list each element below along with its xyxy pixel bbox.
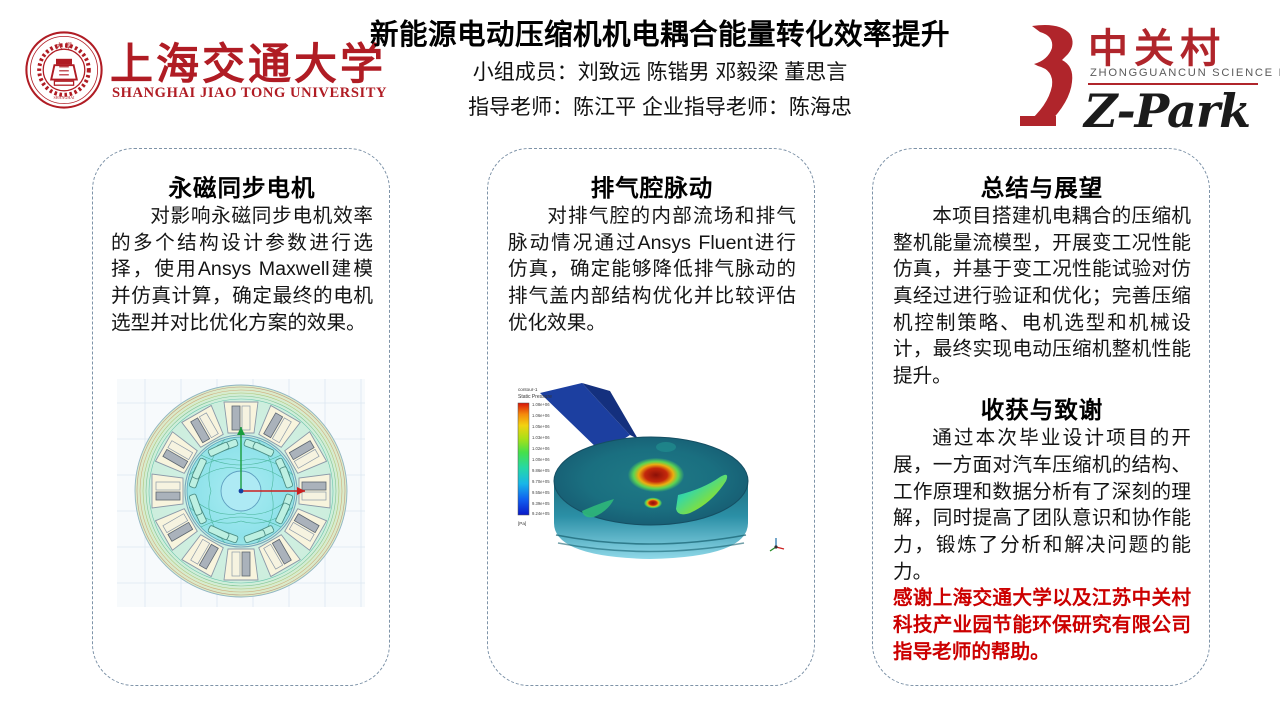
panel-3-content: 总结与展望 本项目搭建机电耦合的压缩机整机能量流模型，开展变工况性能仿真，并基于… xyxy=(893,169,1191,665)
sjtu-seal-icon: 大 學 SHANGHAI xyxy=(24,30,104,110)
svg-text:1.08e+06: 1.08e+06 xyxy=(532,402,550,407)
svg-text:9.39e+05: 9.39e+05 xyxy=(532,501,550,506)
panel-discharge-chamber-pulsation: 排气腔脉动 对排气腔的内部流场和排气脉动情况通过Ansys Fluent进行仿真… xyxy=(487,148,815,686)
shanghai-jiao-tong-university-logo: 大 學 SHANGHAI 上海交通大学 SHANGHAI JIAO TONG U… xyxy=(18,26,338,121)
panel-summary-and-outlook: 总结与展望 本项目搭建机电耦合的压缩机整机能量流模型，开展变工况性能仿真，并基于… xyxy=(872,148,1210,686)
svg-text:1.06e+06: 1.06e+06 xyxy=(532,413,550,418)
panel-3-body: 本项目搭建机电耦合的压缩机整机能量流模型，开展变工况性能仿真，并基于变工况性能试… xyxy=(893,203,1191,389)
panel-2-body: 对排气腔的内部流场和排气脉动情况通过Ansys Fluent进行仿真，确定能够降… xyxy=(508,203,796,336)
panel-1-content: 永磁同步电机 对影响永磁同步电机效率的多个结构设计参数进行选择，使用Ansys … xyxy=(111,169,373,336)
panel-1-heading: 永磁同步电机 xyxy=(111,169,373,203)
faint-spot xyxy=(656,442,676,452)
poster-canvas: 大 學 SHANGHAI 上海交通大学 SHANGHAI JIAO TONG U… xyxy=(0,0,1280,720)
panel-3-heading-2: 收获与致谢 xyxy=(893,391,1191,425)
poster-title: 新能源电动压缩机机电耦合能量转化效率提升 xyxy=(330,18,990,54)
poster-header: 大 學 SHANGHAI 上海交通大学 SHANGHAI JIAO TONG U… xyxy=(0,0,1280,140)
svg-text:1.03e+06: 1.03e+06 xyxy=(532,435,550,440)
svg-text:1.00e+06: 1.00e+06 xyxy=(532,457,550,462)
zpark-logo-chinese: 中关村 xyxy=(1088,16,1226,74)
legend-title-line2: Static Pressure xyxy=(518,394,552,400)
team-members-line: 小组成员：刘致远 陈锴男 邓毅梁 董思言 xyxy=(330,57,990,90)
svg-text:9.24e+05: 9.24e+05 xyxy=(532,511,550,516)
svg-text:9.70e+05: 9.70e+05 xyxy=(532,479,550,484)
legend-unit: [Pa] xyxy=(518,521,526,526)
discharge-cavity-pressure-contour: contour-1 Static Pressure 1.08e+06 1.06e… xyxy=(498,377,806,577)
panel-3-heading: 总结与展望 xyxy=(893,169,1191,203)
panel-2-content: 排气腔脉动 对排气腔的内部流场和排气脉动情况通过Ansys Fluent进行仿真… xyxy=(508,169,796,336)
svg-text:9.86e+05: 9.86e+05 xyxy=(532,468,550,473)
svg-text:SHANGHAI: SHANGHAI xyxy=(54,95,76,100)
svg-text:大 學: 大 學 xyxy=(56,41,73,50)
svg-text:1.05e+06: 1.05e+06 xyxy=(532,424,550,429)
zpark-logo-english: ZHONGGUANCUN SCIENCE PARK xyxy=(1090,67,1280,79)
zhongguancun-science-park-logo: 中关村 ZHONGGUANCUN SCIENCE PARK Z-Park xyxy=(1018,12,1270,132)
svg-text:1.02e+06: 1.02e+06 xyxy=(532,446,550,451)
motor-cross-section-flux-contour xyxy=(115,377,367,609)
legend-title-line1: contour-1 xyxy=(518,387,538,392)
zpark-brush-mark-icon xyxy=(1018,20,1080,130)
title-block: 新能源电动压缩机机电耦合能量转化效率提升 小组成员：刘致远 陈锴男 邓毅梁 董思… xyxy=(330,18,990,125)
motor-geometry xyxy=(135,385,347,597)
svg-text:9.55e+05: 9.55e+05 xyxy=(532,490,550,495)
panel-permanent-magnet-synchronous-motor: 永磁同步电机 对影响永磁同步电机效率的多个结构设计参数进行选择，使用Ansys … xyxy=(92,148,390,686)
panel-3-body-2: 通过本次毕业设计项目的开展，一方面对汽车压缩机的结构、工作原理和数据分析有了深刻… xyxy=(893,425,1191,585)
panel-2-heading: 排气腔脉动 xyxy=(508,169,796,203)
zpark-logo-wordmark: Z-Park xyxy=(1084,84,1250,138)
panel-1-body: 对影响永磁同步电机效率的多个结构设计参数进行选择，使用Ansys Maxwell… xyxy=(111,203,373,336)
advisors-line: 指导老师：陈江平 企业指导老师：陈海忠 xyxy=(330,92,990,125)
acknowledgement-text: 感谢上海交通大学以及江苏中关村科技产业园节能环保研究有限公司指导老师的帮助。 xyxy=(893,585,1191,665)
high-pressure-hotspot xyxy=(628,458,684,492)
secondary-hotspot xyxy=(644,498,662,509)
